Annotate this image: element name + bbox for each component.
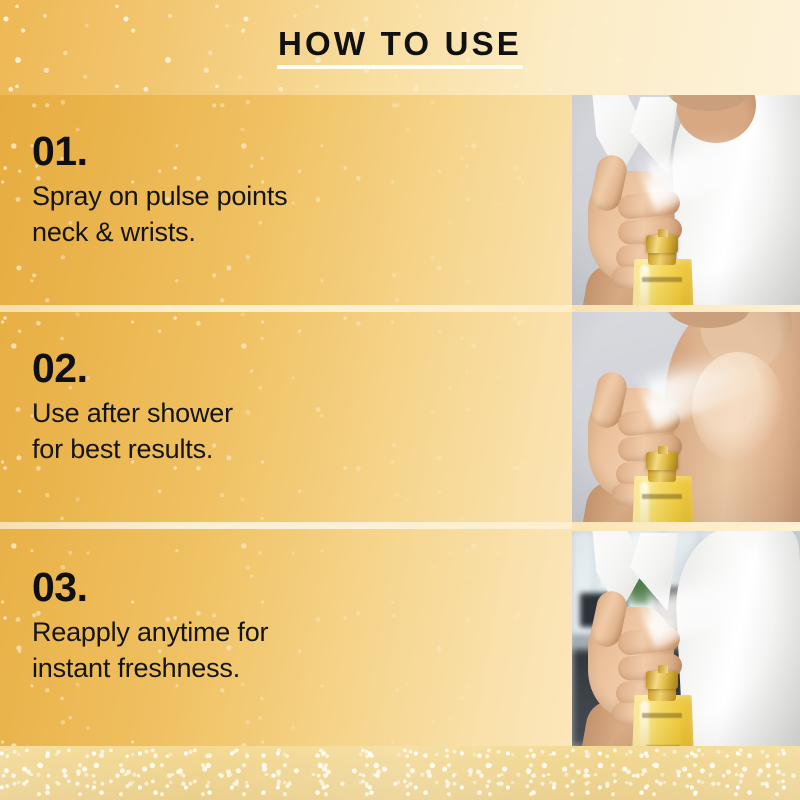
step-divider <box>0 305 572 312</box>
bottle-gold-cap <box>646 452 678 470</box>
glitter-sheen <box>0 746 800 800</box>
step-line: neck & wrists. <box>32 215 552 251</box>
perfume-bottle <box>632 454 694 522</box>
perfume-bottle <box>632 673 694 746</box>
spray-nozzle <box>658 229 668 237</box>
hand-holding-bottle <box>588 149 692 299</box>
step-line: Use after shower <box>32 396 552 432</box>
step-line: Spray on pulse points <box>32 179 552 215</box>
bottle-gold-cap <box>646 671 678 689</box>
step-number: 01. <box>32 131 552 173</box>
title-underline <box>277 65 523 69</box>
hand-holding-bottle <box>588 585 692 735</box>
title-container: HOW TO USE <box>0 0 800 95</box>
bottle-gold-cap <box>646 235 678 253</box>
bottle-label <box>642 277 682 282</box>
step-line: instant freshness. <box>32 651 552 687</box>
bottle-highlight <box>640 265 649 305</box>
step-line: Reapply anytime for <box>32 615 552 651</box>
bottle-label <box>642 494 682 499</box>
step-photo-1 <box>572 95 800 305</box>
perfume-bottle <box>632 237 694 305</box>
spray-nozzle <box>658 446 668 454</box>
step-text-block: 02. Use after shower for best results. <box>32 348 552 468</box>
bottle-label <box>642 713 682 718</box>
bottle-highlight <box>640 482 649 522</box>
step-divider <box>0 522 572 529</box>
hand-holding-bottle <box>588 366 692 516</box>
bottle-highlight <box>640 701 649 746</box>
step-line: for best results. <box>32 432 552 468</box>
spray-nozzle <box>658 665 668 673</box>
page-title: HOW TO USE <box>278 27 522 60</box>
step-text-block: 01. Spray on pulse points neck & wrists. <box>32 131 552 251</box>
step-photo-3 <box>572 531 800 746</box>
step-text-block: 03. Reapply anytime for instant freshnes… <box>32 567 552 687</box>
step-number: 02. <box>32 348 552 390</box>
step-number: 03. <box>32 567 552 609</box>
step-photo-2 <box>572 312 800 522</box>
bottom-glitter-band <box>0 746 800 800</box>
how-to-use-poster: HOW TO USE 01. Spray on pulse points nec… <box>0 0 800 800</box>
